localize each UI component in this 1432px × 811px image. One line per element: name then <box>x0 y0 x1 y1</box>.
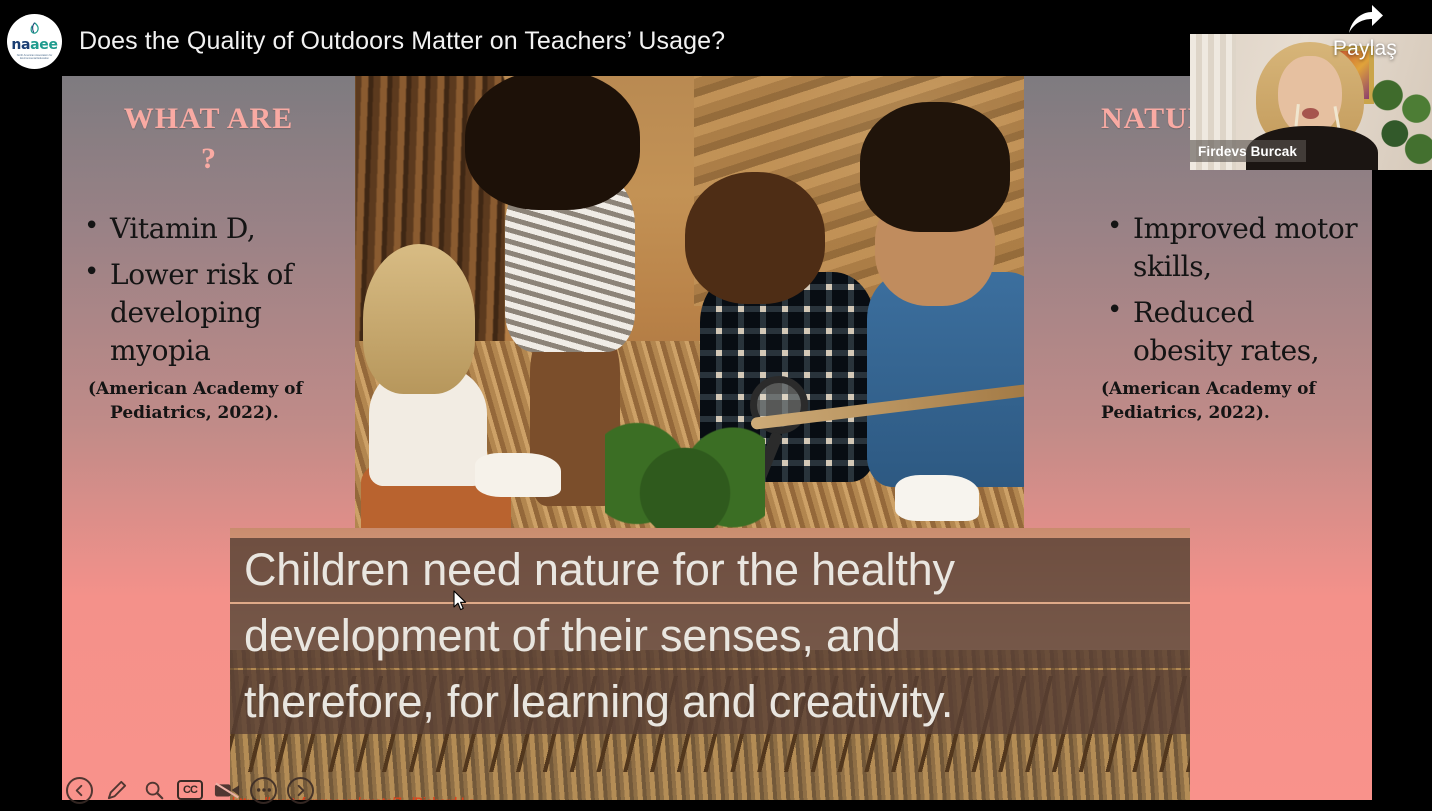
list-item: Reduced obesity rates, <box>1093 294 1358 370</box>
mouse-cursor <box>453 590 468 611</box>
logo-subtitle: North American Association for Environme… <box>10 54 60 61</box>
left-column-bullets: Vitamin D, Lower risk of developing myop… <box>76 210 341 370</box>
annotate-button[interactable] <box>103 777 130 804</box>
arrow-left-icon <box>72 783 87 798</box>
camera-off-button[interactable] <box>213 777 240 804</box>
slide-photo <box>355 76 1024 531</box>
logo-wordmark-part2: aee <box>30 37 58 53</box>
logo-wordmark: naaee <box>11 38 57 52</box>
left-column-citation: (American Academy of Pediatrics, 2022). <box>76 378 341 425</box>
left-column-question-mark: ? <box>76 142 341 176</box>
back-button[interactable] <box>66 777 93 804</box>
photo-child-4-hair <box>860 102 1010 232</box>
list-item: Vitamin D, <box>76 210 341 248</box>
slide-canvas: WHAT ARE ? Vitamin D, Lower risk of deve… <box>62 76 1372 800</box>
zoom-button[interactable] <box>140 777 167 804</box>
forward-button[interactable] <box>287 777 314 804</box>
photo-child-3-hair <box>685 172 825 304</box>
list-item: Improved motor skills, <box>1093 210 1358 286</box>
camera-off-icon <box>214 780 240 800</box>
right-column-bullets: Improved motor skills, Reduced obesity r… <box>1093 210 1358 370</box>
page-title: Does the Quality of Outdoors Matter on T… <box>79 27 725 56</box>
logo-wordmark-part1: na <box>11 37 30 53</box>
quote-line: therefore, for learning and creativity. <box>230 670 1190 734</box>
leaf-icon <box>27 22 42 37</box>
left-column-heading: WHAT ARE <box>76 102 341 136</box>
arrow-right-icon <box>293 783 308 798</box>
video-participant-face <box>1278 56 1342 136</box>
search-icon <box>143 779 165 801</box>
list-item: Lower risk of developing myopia <box>76 256 341 370</box>
quote-line: development of their senses, and <box>230 604 1190 668</box>
pencil-icon <box>105 779 128 802</box>
photo-shoe-right <box>895 475 979 521</box>
captions-button[interactable]: CC <box>177 780 203 800</box>
photo-shoe-left <box>475 453 561 497</box>
video-participant-mouth <box>1302 108 1319 119</box>
quote-overlay: Children need nature for the healthy dev… <box>230 528 1190 800</box>
ellipsis-icon <box>256 787 272 793</box>
screen-root: naaee North American Association for Env… <box>0 0 1432 811</box>
right-column-citation: (American Academy of Pediatrics, 2022). <box>1093 378 1358 425</box>
photo-child-2-hair <box>465 76 640 210</box>
photo-child-1-hair <box>363 244 475 394</box>
participant-name-label: Firdevs Burcak <box>1190 140 1306 162</box>
photo-plant <box>605 415 765 531</box>
more-options-button[interactable] <box>250 777 277 804</box>
naaee-logo: naaee North American Association for Env… <box>7 14 62 69</box>
video-participant-tile[interactable]: Firdevs Burcak <box>1190 34 1432 170</box>
presentation-toolbar: CC <box>66 773 314 807</box>
quote-line: Children need nature for the healthy <box>230 538 1190 602</box>
